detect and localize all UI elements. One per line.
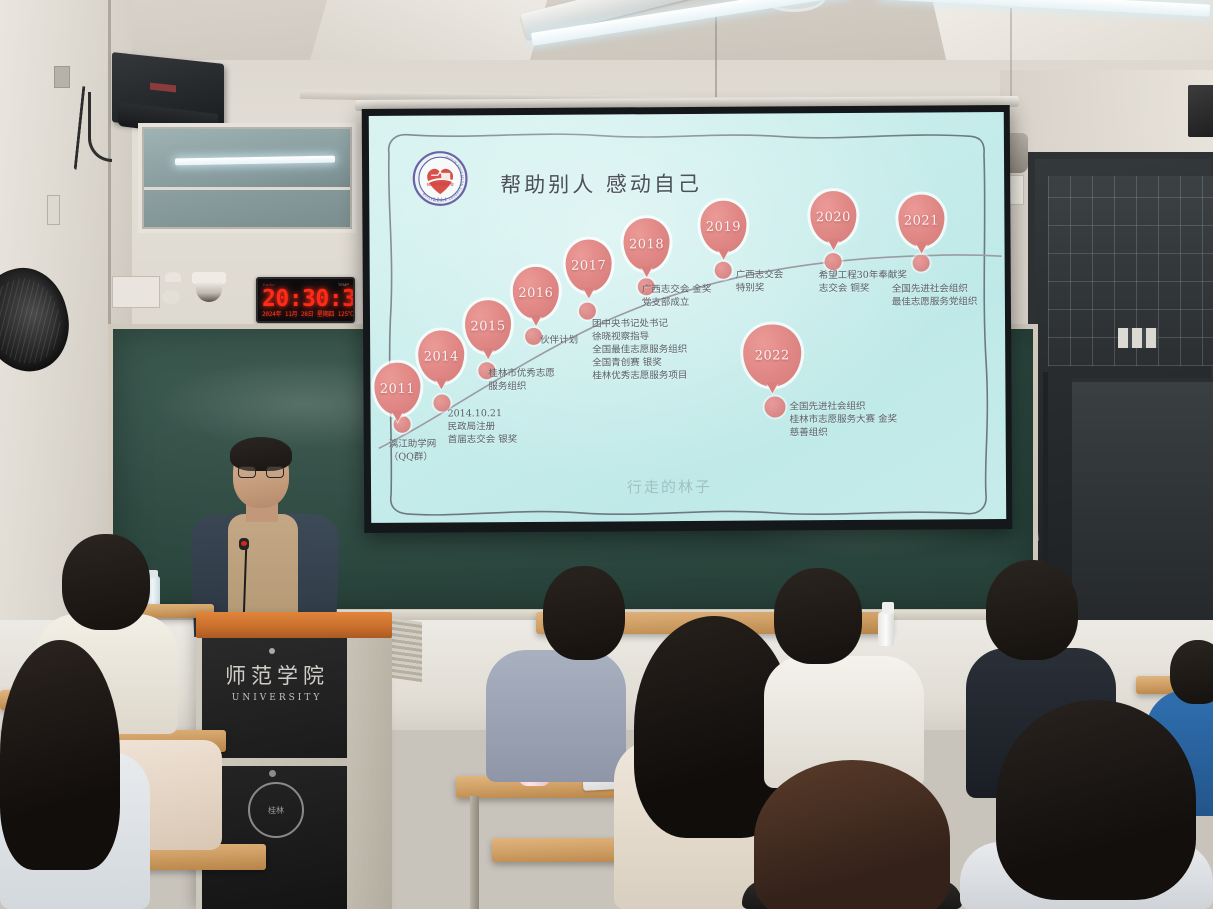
projection-screen: 桂林助学联合会 2011 GUILIN EDUCATION SUPPORT AS…: [362, 105, 1013, 533]
window-glass-lower: [144, 187, 350, 227]
classroom-window: [138, 123, 356, 233]
timeline-balloon-2021[interactable]: 2021: [898, 194, 944, 246]
timeline-label-2018: 广西志交会 金奖 党支部成立: [642, 283, 712, 309]
timeline-dot-2019: [715, 262, 732, 279]
door-light-strip: [1118, 328, 1158, 348]
timeline-balloon-2011[interactable]: 2011: [374, 363, 420, 415]
lectern-en-name: UNIVERSITY: [213, 693, 341, 703]
wall-speaker-icon: [1188, 85, 1213, 137]
timeline-balloon-2018[interactable]: 2018: [623, 218, 669, 270]
timeline-balloon-2014[interactable]: 2014: [418, 330, 464, 382]
timeline-dot-2021: [913, 255, 930, 272]
glasses-icon: [238, 466, 284, 478]
projector-cable-loop: [88, 92, 112, 162]
balloon-year-label: 2015: [465, 300, 511, 352]
ceiling-rod-secondary: [1010, 8, 1012, 98]
timeline-label-2022: 全国先进社会组织 桂林市志愿服务大赛 金奖 慈善组织: [789, 400, 897, 440]
timeline-balloon-2019[interactable]: 2019: [700, 201, 746, 253]
lectern-cn-name: 师范学院: [213, 660, 341, 690]
student-hair: [0, 640, 120, 870]
timeline-dot-2022: [764, 396, 785, 417]
student-head: [754, 760, 950, 909]
microphone-led: [241, 541, 247, 546]
balloon-year-label: 2018: [623, 218, 669, 270]
balloon-year-label: 2016: [513, 267, 559, 319]
desk-leg: [470, 796, 479, 909]
balloon-year-label: 2011: [374, 363, 420, 415]
timeline-balloon-2016[interactable]: 2016: [513, 267, 559, 319]
lectern-top: [196, 612, 392, 638]
smoke-detector-mount: [165, 272, 181, 282]
timeline-label-2014: 2014.10.21 民政局注册 首届志交会 银奖: [448, 407, 518, 446]
timeline-label-2011: 漓江助学网 （QQ群）: [389, 438, 437, 464]
lectern-branding: 师范学院 UNIVERSITY: [213, 660, 341, 703]
podium-vent: [392, 618, 422, 682]
lectern-side: [347, 628, 392, 909]
slide-watermark: 行走的林子: [627, 476, 712, 498]
clock-time-display: 20:30:37: [262, 287, 351, 311]
student-head: [986, 560, 1078, 660]
glasses-lens-left: [238, 466, 256, 478]
clock-date-display: 2024年 11月 28日 星期四 125℃ 68%: [262, 309, 350, 318]
timeline-dot-2020: [825, 253, 842, 270]
student-head: [1170, 640, 1213, 704]
timeline-balloon-2017[interactable]: 2017: [566, 239, 612, 291]
balloon-year-label: 2019: [700, 201, 746, 253]
wall-outlet-box: [54, 66, 70, 88]
balloon-year-label: 2017: [566, 239, 612, 291]
student-body: [486, 650, 626, 782]
timeline-balloon-2015[interactable]: 2015: [465, 300, 511, 352]
student-head: [62, 534, 150, 630]
timeline-label-2015: 桂林市优秀志愿 服务组织: [488, 367, 555, 393]
wall-junction-box: [112, 276, 160, 308]
timeline-balloon-2022[interactable]: 2022: [743, 324, 801, 386]
lectern-knob-lower: [269, 770, 276, 777]
balloon-year-label: 2021: [898, 194, 944, 246]
student-hair: [996, 700, 1196, 900]
balloon-year-label: 2014: [418, 330, 464, 382]
student-head: [543, 566, 625, 660]
lectern-knob-upper: [269, 648, 275, 654]
smoke-detector-icon: [162, 290, 180, 304]
lectern-seal: 桂林: [248, 782, 304, 838]
balloon-year-label: 2020: [810, 191, 856, 243]
timeline-balloon-2020[interactable]: 2020: [810, 191, 856, 243]
presentation-slide: 桂林助学联合会 2011 GUILIN EDUCATION SUPPORT AS…: [369, 112, 1006, 523]
door-lower-panel: [1072, 378, 1213, 632]
led-wall-clock: Kadio TEMP 20:30:37 2024年 11月 28日 星期四 12…: [256, 277, 355, 323]
glasses-lens-right: [266, 466, 284, 478]
hand-sanitizer-pump: [882, 602, 894, 614]
timeline-label-2017: 团中央书记处书记 徐晓视察指导 全国最佳志愿服务组织 全国青创赛 银奖 桂林优秀…: [592, 317, 687, 383]
balloon-year-label: 2022: [743, 324, 801, 386]
timeline-label-2016: 伙伴计划: [540, 334, 578, 347]
light-switch-plate[interactable]: [47, 195, 60, 225]
ceiling-fan-rod: [715, 10, 717, 98]
hand-sanitizer-bottle: [878, 612, 894, 646]
student-head: [774, 568, 862, 664]
timeline-label-2019: 广西志交会 特别奖: [736, 268, 784, 294]
classroom-scene: Kadio TEMP 20:30:37 2024年 11月 28日 星期四 12…: [0, 0, 1213, 909]
timeline-label-2021: 全国先进社会组织 最佳志愿服务党组织: [892, 282, 978, 309]
